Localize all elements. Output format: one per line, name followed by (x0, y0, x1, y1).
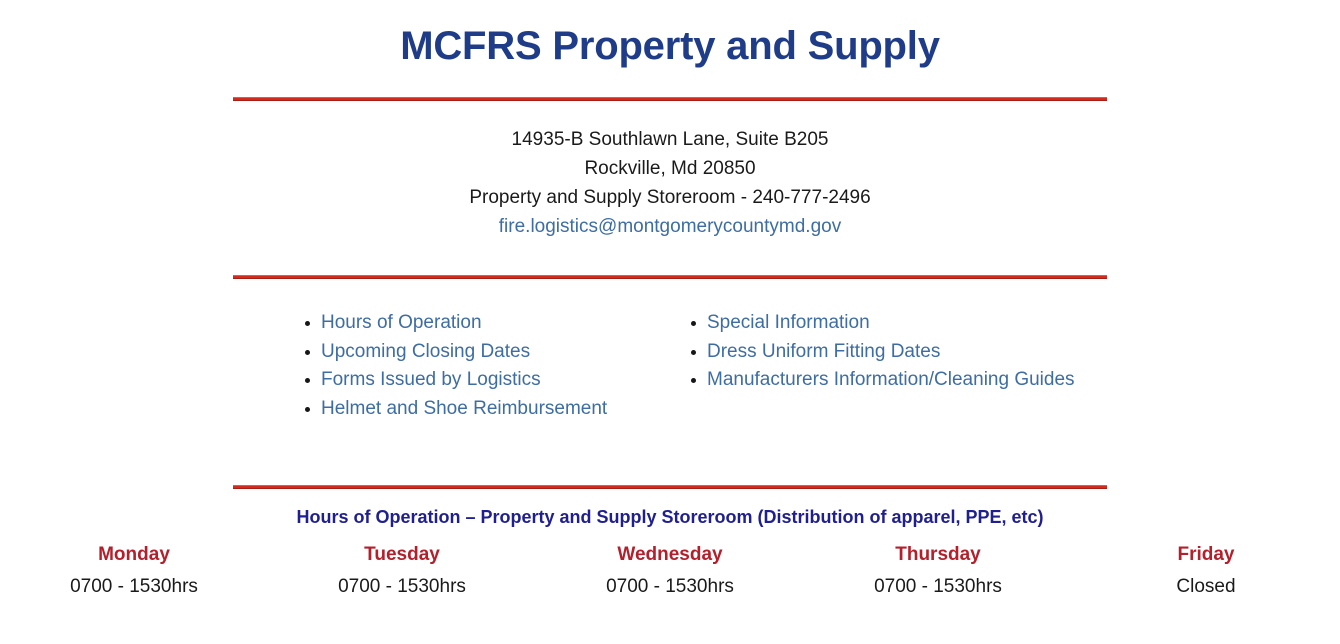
list-item[interactable]: Special Information (682, 309, 1232, 338)
link-list-left: Hours of Operation Upcoming Closing Date… (296, 309, 672, 423)
list-item[interactable]: Forms Issued by Logistics (296, 366, 672, 395)
red-divider-middle (233, 275, 1107, 279)
day-hours-thursday: 0700 - 1530hrs (804, 572, 1072, 601)
day-name-friday: Friday (1072, 543, 1340, 567)
day-column-wednesday: Wednesday 0700 - 1530hrs (536, 543, 804, 601)
day-column-monday: Monday 0700 - 1530hrs (0, 543, 268, 601)
contact-block: 14935-B Southlawn Lane, Suite B205 Rockv… (0, 125, 1340, 241)
link-manufacturers-information-cleaning-guides[interactable]: Manufacturers Information/Cleaning Guide… (707, 369, 1075, 390)
day-column-friday: Friday Closed (1072, 543, 1340, 601)
list-item[interactable]: Hours of Operation (296, 309, 672, 338)
link-hours-of-operation[interactable]: Hours of Operation (321, 312, 482, 333)
hours-section-heading: Hours of Operation – Property and Supply… (0, 489, 1340, 528)
day-name-monday: Monday (0, 543, 268, 567)
divider-wrap-middle (233, 275, 1107, 279)
email-link[interactable]: fire.logistics@montgomerycountymd.gov (499, 212, 841, 241)
bullet-icon (305, 321, 310, 326)
link-dress-uniform-fitting-dates[interactable]: Dress Uniform Fitting Dates (707, 341, 940, 362)
hours-days-row: Monday 0700 - 1530hrs Tuesday 0700 - 153… (0, 543, 1340, 601)
red-divider-bottom (233, 485, 1107, 489)
red-divider-top (233, 97, 1107, 101)
address-line-street: 14935-B Southlawn Lane, Suite B205 (0, 125, 1340, 154)
link-list-right: Special Information Dress Uniform Fittin… (682, 309, 1232, 395)
links-column-left: Hours of Operation Upcoming Closing Date… (296, 309, 672, 423)
bullet-icon (305, 378, 310, 383)
bullet-icon (305, 350, 310, 355)
address-line-city: Rockville, Md 20850 (0, 154, 1340, 183)
day-name-wednesday: Wednesday (536, 543, 804, 567)
bullet-icon (691, 321, 696, 326)
day-hours-wednesday: 0700 - 1530hrs (536, 572, 804, 601)
links-column-right: Special Information Dress Uniform Fittin… (672, 309, 1232, 423)
divider-wrap-bottom (233, 485, 1107, 489)
divider-wrap-top (233, 97, 1107, 101)
link-upcoming-closing-dates[interactable]: Upcoming Closing Dates (321, 341, 530, 362)
bullet-icon (691, 378, 696, 383)
list-item[interactable]: Upcoming Closing Dates (296, 338, 672, 367)
day-hours-friday: Closed (1072, 572, 1340, 601)
list-item[interactable]: Manufacturers Information/Cleaning Guide… (682, 366, 1232, 395)
link-helmet-and-shoe-reimbursement[interactable]: Helmet and Shoe Reimbursement (321, 398, 607, 419)
list-item[interactable]: Dress Uniform Fitting Dates (682, 338, 1232, 367)
day-hours-tuesday: 0700 - 1530hrs (268, 572, 536, 601)
page-title: MCFRS Property and Supply (0, 0, 1340, 66)
day-hours-monday: 0700 - 1530hrs (0, 572, 268, 601)
links-area: Hours of Operation Upcoming Closing Date… (0, 309, 1340, 423)
address-line-phone: Property and Supply Storeroom - 240-777-… (0, 183, 1340, 212)
link-special-information[interactable]: Special Information (707, 312, 870, 333)
page-root: MCFRS Property and Supply 14935-B Southl… (0, 0, 1340, 644)
bullet-icon (691, 350, 696, 355)
day-column-thursday: Thursday 0700 - 1530hrs (804, 543, 1072, 601)
day-name-tuesday: Tuesday (268, 543, 536, 567)
link-forms-issued-by-logistics[interactable]: Forms Issued by Logistics (321, 369, 541, 390)
day-name-thursday: Thursday (804, 543, 1072, 567)
list-item[interactable]: Helmet and Shoe Reimbursement (296, 395, 672, 424)
day-column-tuesday: Tuesday 0700 - 1530hrs (268, 543, 536, 601)
bullet-icon (305, 407, 310, 412)
